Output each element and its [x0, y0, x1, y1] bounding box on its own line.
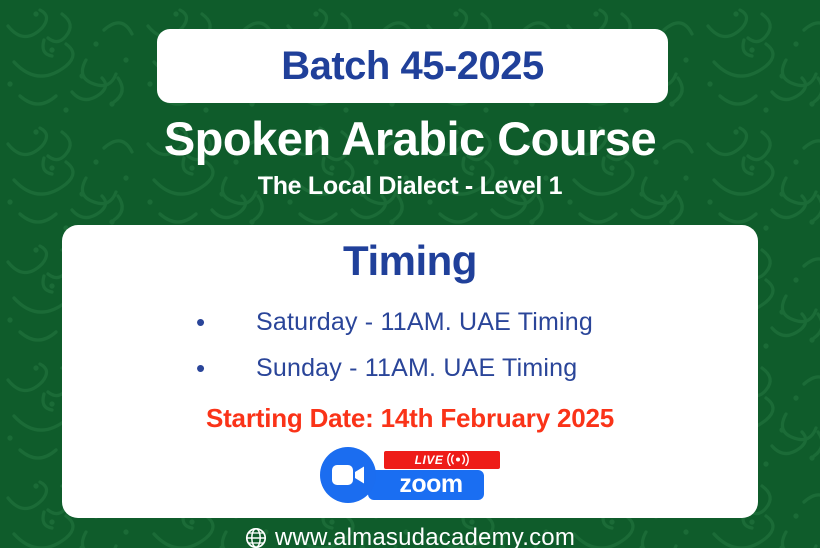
zoom-wordmark-banner: zoom — [368, 470, 484, 500]
bullet-icon: • — [196, 355, 256, 381]
live-banner: LIVE — [384, 451, 500, 469]
timing-card: Timing • Saturday - 11AM. UAE Timing • S… — [62, 225, 758, 518]
globe-icon — [245, 527, 267, 548]
broadcast-waves-icon — [447, 453, 469, 466]
course-subtitle: The Local Dialect - Level 1 — [0, 172, 820, 201]
headline-block: Spoken Arabic Course The Local Dialect -… — [0, 112, 820, 201]
batch-badge: Batch 45-2025 — [157, 29, 668, 103]
live-zoom-logo: LIVE zoom — [320, 447, 500, 503]
timing-line-saturday: Saturday - 11AM. UAE Timing — [256, 308, 593, 337]
course-title: Spoken Arabic Course — [0, 112, 820, 166]
batch-badge-label: Batch 45-2025 — [281, 44, 544, 89]
timing-card-title: Timing — [62, 237, 758, 285]
zoom-wordmark: zoom — [399, 472, 462, 497]
timing-line-sunday: Sunday - 11AM. UAE Timing — [256, 354, 577, 383]
footer: www.almasudacademy.com — [0, 524, 820, 548]
live-label: LIVE — [415, 454, 444, 466]
start-date-text: Starting Date: 14th February 2025 — [62, 403, 758, 434]
poster-canvas: Batch 45-2025 Spoken Arabic Course The L… — [0, 0, 820, 548]
list-item: • Sunday - 11AM. UAE Timing — [62, 345, 758, 391]
timing-list: • Saturday - 11AM. UAE Timing • Sunday -… — [62, 299, 758, 391]
video-camera-icon — [320, 447, 376, 503]
website-url: www.almasudacademy.com — [275, 524, 575, 548]
list-item: • Saturday - 11AM. UAE Timing — [62, 299, 758, 345]
zoom-logo-text-stack: LIVE zoom — [368, 451, 500, 500]
bullet-icon: • — [196, 309, 256, 335]
